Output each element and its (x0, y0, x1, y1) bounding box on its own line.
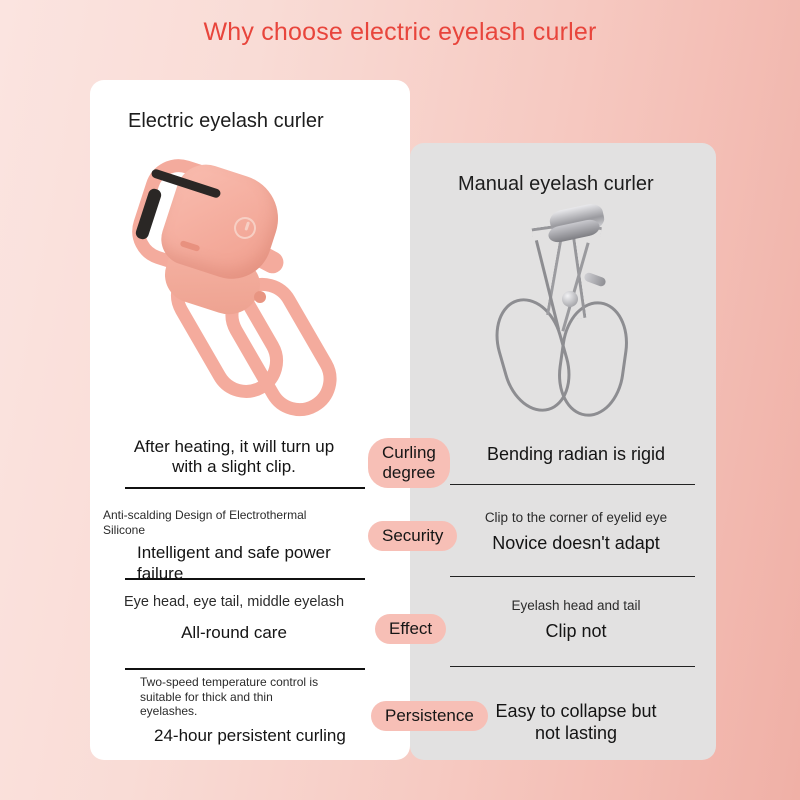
electric-eyelash-curler-image (118, 155, 378, 425)
row-4-left-main: 24-hour persistent curling (140, 726, 412, 746)
row-3-right-cell: Eyelash head and tail Clip not (440, 598, 712, 643)
row-2-left-caption: Anti-scalding Design of Electrothermal S… (103, 508, 375, 537)
row-3-left-divider (125, 668, 365, 670)
row-2-left-cell: Anti-scalding Design of Electrothermal S… (103, 508, 375, 584)
row-2-left-divider (125, 578, 365, 580)
row-2-right-divider (450, 576, 695, 577)
row-3-right-divider (450, 666, 695, 667)
row-2-right-main: Novice doesn't adapt (440, 533, 712, 555)
row-label-curling-degree[interactable]: Curling degree (368, 438, 450, 488)
page-title: Why choose electric eyelash curler (0, 18, 800, 47)
row-1-left-divider (125, 487, 365, 489)
row-1-left-main: After heating, it will turn up with a sl… (98, 437, 370, 478)
row-3-right-caption: Eyelash head and tail (440, 598, 712, 614)
row-2-right-caption: Clip to the corner of eyelid eye (440, 510, 712, 526)
row-3-left-cell: Eye head, eye tail, middle eyelash All-r… (98, 594, 370, 643)
row-2-right-cell: Clip to the corner of eyelid eye Novice … (440, 510, 712, 555)
row-1-right-divider (450, 484, 695, 485)
electric-card-heading: Electric eyelash curler (128, 110, 324, 133)
row-3-right-main: Clip not (440, 621, 712, 643)
row-3-left-main: All-round care (98, 623, 370, 643)
row-1-left-cell: After heating, it will turn up with a sl… (98, 437, 370, 478)
row-label-effect[interactable]: Effect (375, 614, 446, 644)
row-label-security[interactable]: Security (368, 521, 457, 551)
row-1-right-main: Bending radian is rigid (440, 444, 712, 466)
manual-pivot (562, 291, 578, 307)
row-1-right-cell: Bending radian is rigid (440, 444, 712, 466)
electric-pivot (254, 291, 266, 303)
manual-eyelash-curler-image (488, 205, 678, 420)
manual-card-heading: Manual eyelash curler (458, 173, 654, 196)
row-3-left-caption: Eye head, eye tail, middle eyelash (98, 594, 370, 612)
row-label-persistence[interactable]: Persistence (371, 701, 488, 731)
